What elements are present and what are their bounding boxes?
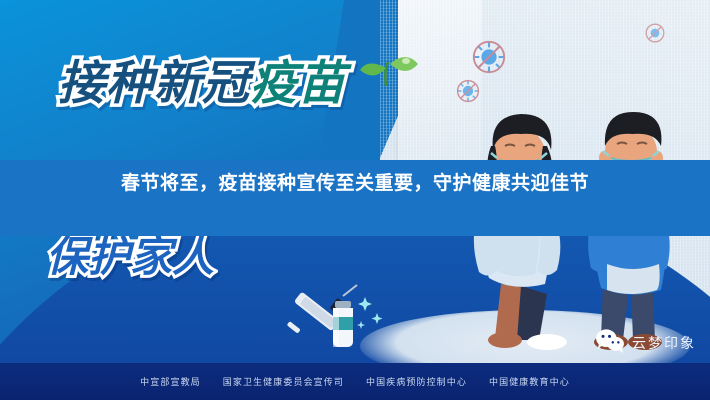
virus-blocked-icon — [644, 22, 666, 44]
headline-part-1: 接种新冠 — [58, 56, 250, 111]
vaccine-promo-poster: 接种新冠疫苗 保护自己 保护家人 — [0, 0, 710, 400]
sparkles-icon — [357, 297, 383, 329]
credit-item: 中国健康教育中心 — [489, 375, 570, 388]
credit-item: 国家卫生健康委员会宣传司 — [223, 375, 344, 388]
credit-item: 中国疾病预防控制中心 — [366, 375, 467, 388]
vaccine-illustration — [285, 275, 395, 360]
caption-band: 春节将至，疫苗接种宣传至关重要，守护健康共迎佳节 — [0, 160, 710, 236]
watermark: 云梦印象 — [595, 328, 696, 358]
ghost-slogan-line-2: 保护家人 — [46, 236, 214, 278]
credit-item: 中宣部宣教局 — [140, 375, 201, 388]
caption-text: 春节将至，疫苗接种宣传至关重要，守护健康共迎佳节 — [0, 169, 710, 198]
headline-part-2: 疫苗 — [250, 56, 346, 111]
virus-blocked-icon — [470, 38, 508, 76]
footer-credits: 中宣部宣教局 国家卫生健康委员会宣传司 中国疾病预防控制中心 中国健康教育中心 — [0, 363, 710, 400]
sprout-leaf-icon — [356, 50, 420, 86]
page-title: 接种新冠疫苗 — [58, 60, 346, 107]
watermark-label: 云梦印象 — [632, 333, 696, 353]
wechat-icon — [595, 328, 625, 358]
